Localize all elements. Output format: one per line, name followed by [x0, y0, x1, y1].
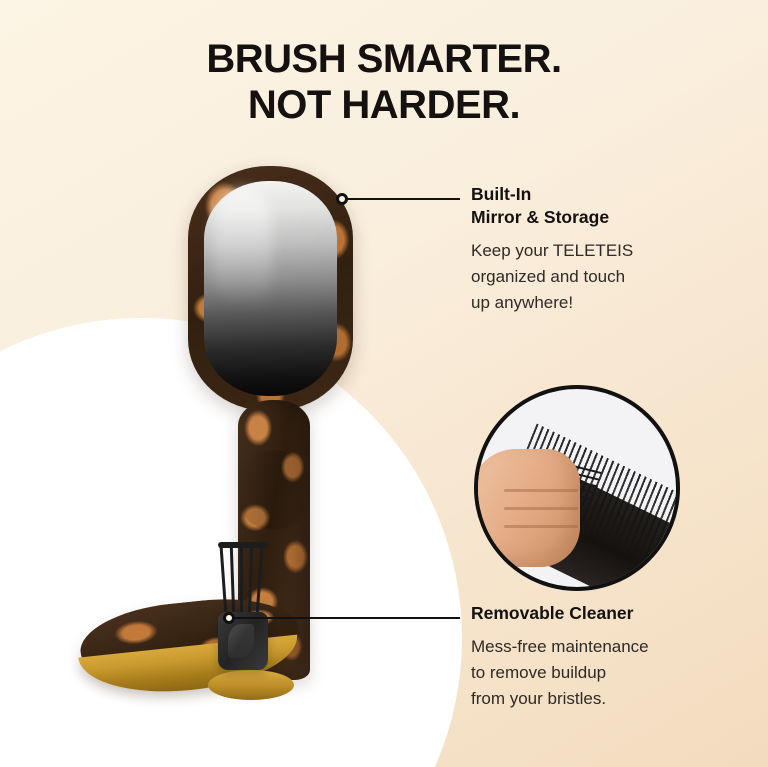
callout-cleaner-body-line-3: from your bristles.	[471, 689, 606, 708]
callout-mirror-title-line-1: Built-In	[471, 184, 531, 204]
brush-mirror-head	[188, 166, 353, 411]
base-gold-foot	[208, 670, 294, 700]
cleaner-prongs	[220, 544, 268, 618]
callout-cleaner-body-line-1: Mess-free maintenance	[471, 637, 649, 656]
inset-hand	[474, 449, 580, 567]
handle-waist-shading	[238, 450, 310, 530]
callout-mirror-body-line-3: up anywhere!	[471, 293, 573, 312]
infographic-canvas: BRUSH SMARTER. NOT HARDER. Built-In Mirr…	[0, 0, 768, 767]
callout-removable-cleaner: Removable Cleaner Mess-free maintenance …	[471, 602, 753, 712]
cleaner-cap	[218, 542, 268, 548]
leader-dot-mirror	[336, 193, 348, 205]
product-illustration	[60, 150, 460, 730]
mirror-sheen	[214, 188, 272, 308]
callout-mirror-body-line-1: Keep your TELETEIS	[471, 241, 633, 260]
headline-line-2: NOT HARDER.	[0, 82, 768, 128]
callout-cleaner-body-line-2: to remove buildup	[471, 663, 606, 682]
callout-mirror-storage: Built-In Mirror & Storage Keep your TELE…	[471, 183, 753, 316]
callout-mirror-title-line-2: Mirror & Storage	[471, 207, 609, 227]
callout-cleaner-body: Mess-free maintenance to remove buildup …	[471, 634, 753, 712]
callout-cleaner-title-line-1: Removable Cleaner	[471, 603, 633, 623]
page-title: BRUSH SMARTER. NOT HARDER.	[0, 36, 768, 128]
callout-mirror-title: Built-In Mirror & Storage	[471, 183, 753, 229]
callout-mirror-body: Keep your TELETEIS organized and touch u…	[471, 238, 753, 316]
headline-line-1: BRUSH SMARTER.	[0, 36, 768, 82]
inset-photo-cleaner-demo	[474, 385, 680, 591]
leader-dot-cleaner	[223, 612, 235, 624]
leader-line-mirror	[347, 198, 460, 200]
callout-mirror-body-line-2: organized and touch	[471, 267, 625, 286]
inset-scene	[478, 389, 676, 587]
inset-hand-crease	[504, 507, 578, 510]
leader-line-cleaner	[234, 617, 460, 619]
callout-cleaner-title: Removable Cleaner	[471, 602, 753, 625]
